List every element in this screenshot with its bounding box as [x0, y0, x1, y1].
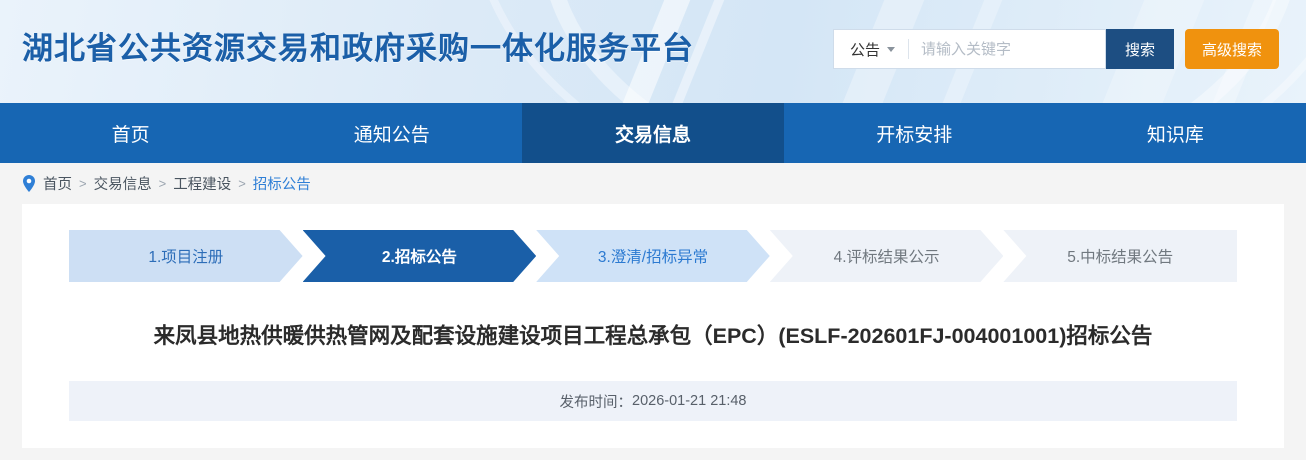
step-evaluation-result[interactable]: 4.评标结果公示: [770, 230, 1004, 282]
step-label: 1.项目注册: [148, 245, 223, 267]
search-category-label: 公告: [850, 39, 880, 60]
nav-item-label: 首页: [112, 120, 150, 147]
breadcrumb-separator: >: [159, 176, 167, 191]
nav-item-notices[interactable]: 通知公告: [261, 103, 522, 163]
nav-item-home[interactable]: 首页: [0, 103, 261, 163]
site-title: 湖北省公共资源交易和政府采购一体化服务平台: [22, 23, 694, 68]
breadcrumb-item-trade-info[interactable]: 交易信息: [94, 173, 152, 194]
location-pin-icon: [22, 175, 36, 192]
step-label: 2.招标公告: [382, 245, 457, 267]
step-winning-result[interactable]: 5.中标结果公告: [1003, 230, 1237, 282]
step-clarification[interactable]: 3.澄清/招标异常: [536, 230, 770, 282]
breadcrumb-item-current[interactable]: 招标公告: [253, 173, 311, 194]
advanced-search-button[interactable]: 高级搜索: [1185, 29, 1279, 69]
main-nav: 首页 通知公告 交易信息 开标安排 知识库: [0, 103, 1306, 163]
step-tender-announcement[interactable]: 2.招标公告: [303, 230, 537, 282]
step-label: 5.中标结果公告: [1067, 245, 1173, 267]
publish-time-label: 发布时间：: [560, 391, 633, 412]
breadcrumb-separator: >: [79, 176, 87, 191]
breadcrumb-item-engineering[interactable]: 工程建设: [173, 173, 231, 194]
search-area: 公告 搜索 高级搜索: [833, 29, 1279, 69]
nav-item-label: 开标安排: [876, 120, 952, 147]
search-button[interactable]: 搜索: [1106, 29, 1174, 69]
search-category-select[interactable]: 公告: [834, 30, 908, 68]
page-title: 来凤县地热供暖供热管网及配套设施建设项目工程总承包（EPC）(ESLF-2026…: [72, 318, 1234, 354]
nav-item-knowledge-base[interactable]: 知识库: [1045, 103, 1306, 163]
breadcrumb-separator: >: [238, 176, 246, 191]
nav-item-label: 交易信息: [615, 120, 691, 147]
chevron-down-icon: [887, 47, 895, 52]
nav-item-label: 知识库: [1147, 120, 1204, 147]
nav-item-trade-info[interactable]: 交易信息: [522, 103, 783, 163]
content-card: 1.项目注册 2.招标公告 3.澄清/招标异常 4.评标结果公示 5.中标结果公…: [22, 204, 1284, 448]
step-label: 4.评标结果公示: [834, 245, 940, 267]
nav-item-label: 通知公告: [354, 120, 430, 147]
step-label: 3.澄清/招标异常: [598, 245, 708, 267]
site-header: 湖北省公共资源交易和政府采购一体化服务平台 公告 搜索 高级搜索: [0, 0, 1306, 103]
publish-time-bar: 发布时间： 2026-01-21 21:48: [69, 381, 1237, 421]
publish-time-value: 2026-01-21 21:48: [632, 393, 747, 409]
search-box: 公告: [833, 29, 1106, 69]
breadcrumb: 首页 > 交易信息 > 工程建设 > 招标公告: [0, 163, 1306, 204]
breadcrumb-item-home[interactable]: 首页: [43, 173, 72, 194]
search-input[interactable]: [909, 30, 1105, 68]
step-project-registration[interactable]: 1.项目注册: [69, 230, 303, 282]
nav-item-bid-opening-schedule[interactable]: 开标安排: [784, 103, 1045, 163]
progress-steps: 1.项目注册 2.招标公告 3.澄清/招标异常 4.评标结果公示 5.中标结果公…: [69, 230, 1237, 282]
